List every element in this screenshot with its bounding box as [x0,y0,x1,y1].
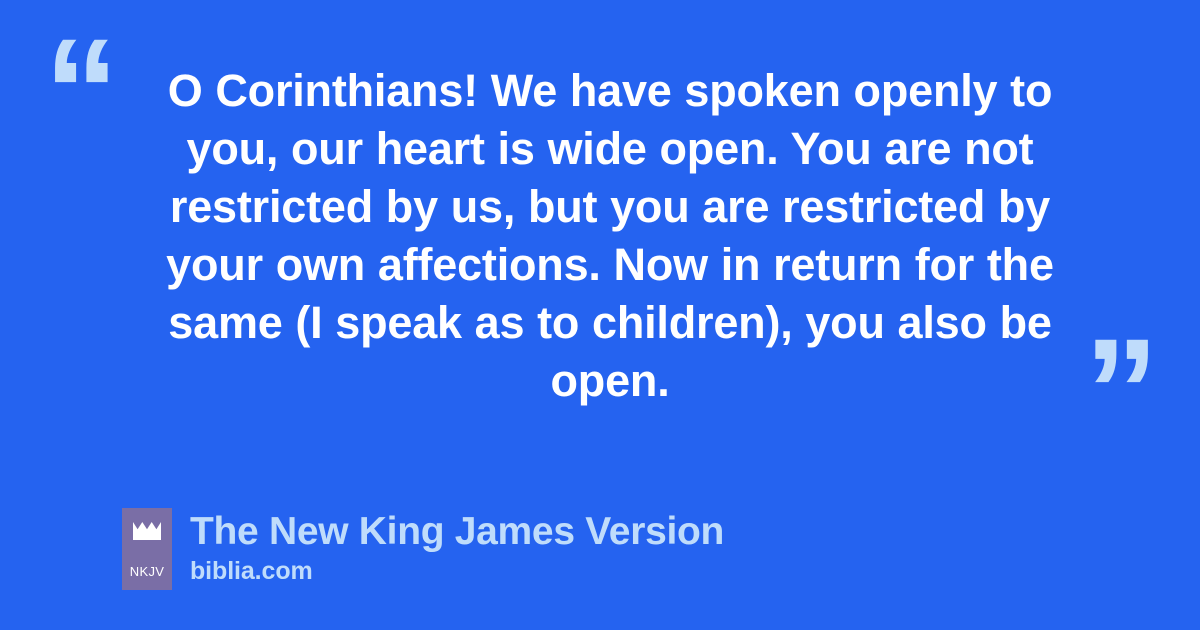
bible-version-title: The New King James Version [190,510,724,554]
footer: NKJV The New King James Version biblia.c… [122,508,724,590]
crown-icon [133,522,161,540]
version-badge: NKJV [122,508,172,590]
opening-quote-icon: “ [44,16,117,166]
quote-block: O Corinthians! We have spoken openly to … [140,62,1080,410]
badge-abbreviation: NKJV [130,565,164,578]
closing-quote-icon: ” [1084,316,1157,466]
site-url-label[interactable]: biblia.com [190,556,724,586]
quote-text: O Corinthians! We have spoken openly to … [140,62,1080,410]
footer-text-group: The New King James Version biblia.com [190,508,724,586]
verse-image-card: “ O Corinthians! We have spoken openly t… [0,0,1200,630]
